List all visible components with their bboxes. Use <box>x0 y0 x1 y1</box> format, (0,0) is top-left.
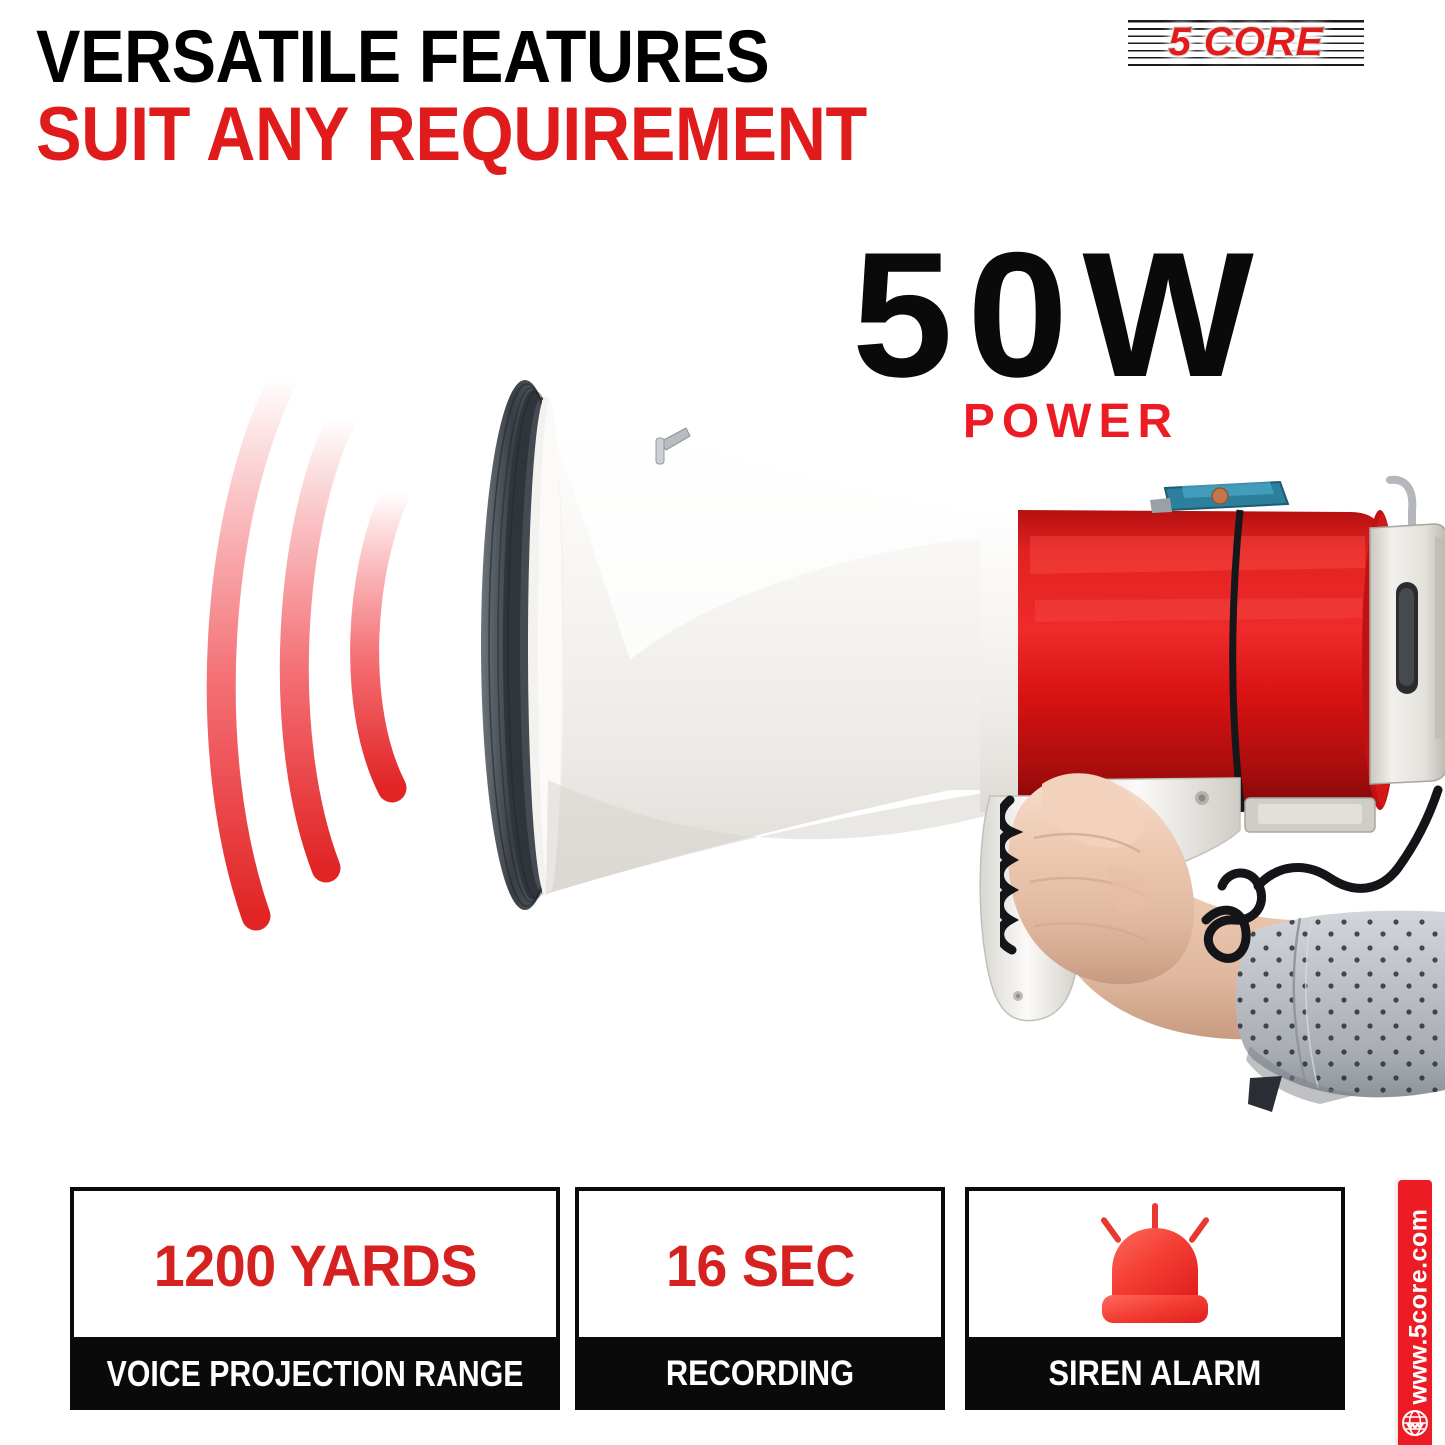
feature-card-voice-projection: 1200 YARDS VOICE PROJECTION RANGE <box>70 1187 560 1410</box>
arm-and-hand <box>1000 760 1445 1180</box>
globe-www-icon <box>1401 1409 1429 1437</box>
feature-label: RECORDING <box>666 1354 854 1394</box>
headline-block: VERSATILE FEATURES SUIT ANY REQUIREMENT <box>36 18 1096 174</box>
feature-label: VOICE PROJECTION RANGE <box>107 1353 524 1395</box>
feature-card-body <box>969 1191 1341 1341</box>
feature-card-body: 1200 YARDS <box>74 1191 556 1341</box>
top-clip-icon <box>1150 482 1288 513</box>
siren-alarm-icon <box>1084 1203 1226 1325</box>
feature-label-bar: SIREN ALARM <box>965 1337 1345 1410</box>
feature-card-recording: 16 SEC RECORDING <box>575 1187 945 1410</box>
feature-label-bar: VOICE PROJECTION RANGE <box>70 1337 560 1410</box>
feature-label-bar: RECORDING <box>575 1337 945 1410</box>
feature-value: 16 SEC <box>665 1233 854 1300</box>
feature-label: SIREN ALARM <box>1049 1354 1262 1394</box>
headline-line-2: SUIT ANY REQUIREMENT <box>36 96 990 174</box>
feature-card-body: 16 SEC <box>579 1191 941 1341</box>
feature-card-siren-alarm: SIREN ALARM <box>965 1187 1345 1410</box>
website-url-text: www.5core.com <box>1405 1182 1433 1432</box>
rear-control-box <box>1370 524 1445 784</box>
feature-value: 1200 YARDS <box>153 1233 476 1300</box>
logo-text: 5 CORE <box>1128 14 1364 70</box>
headline-line-1: VERSATILE FEATURES <box>36 18 990 96</box>
shirt-sleeve <box>1236 911 1445 1112</box>
website-url-strip[interactable]: www.5core.com <box>1398 1180 1432 1445</box>
brand-logo: 5 CORE <box>1128 14 1364 70</box>
